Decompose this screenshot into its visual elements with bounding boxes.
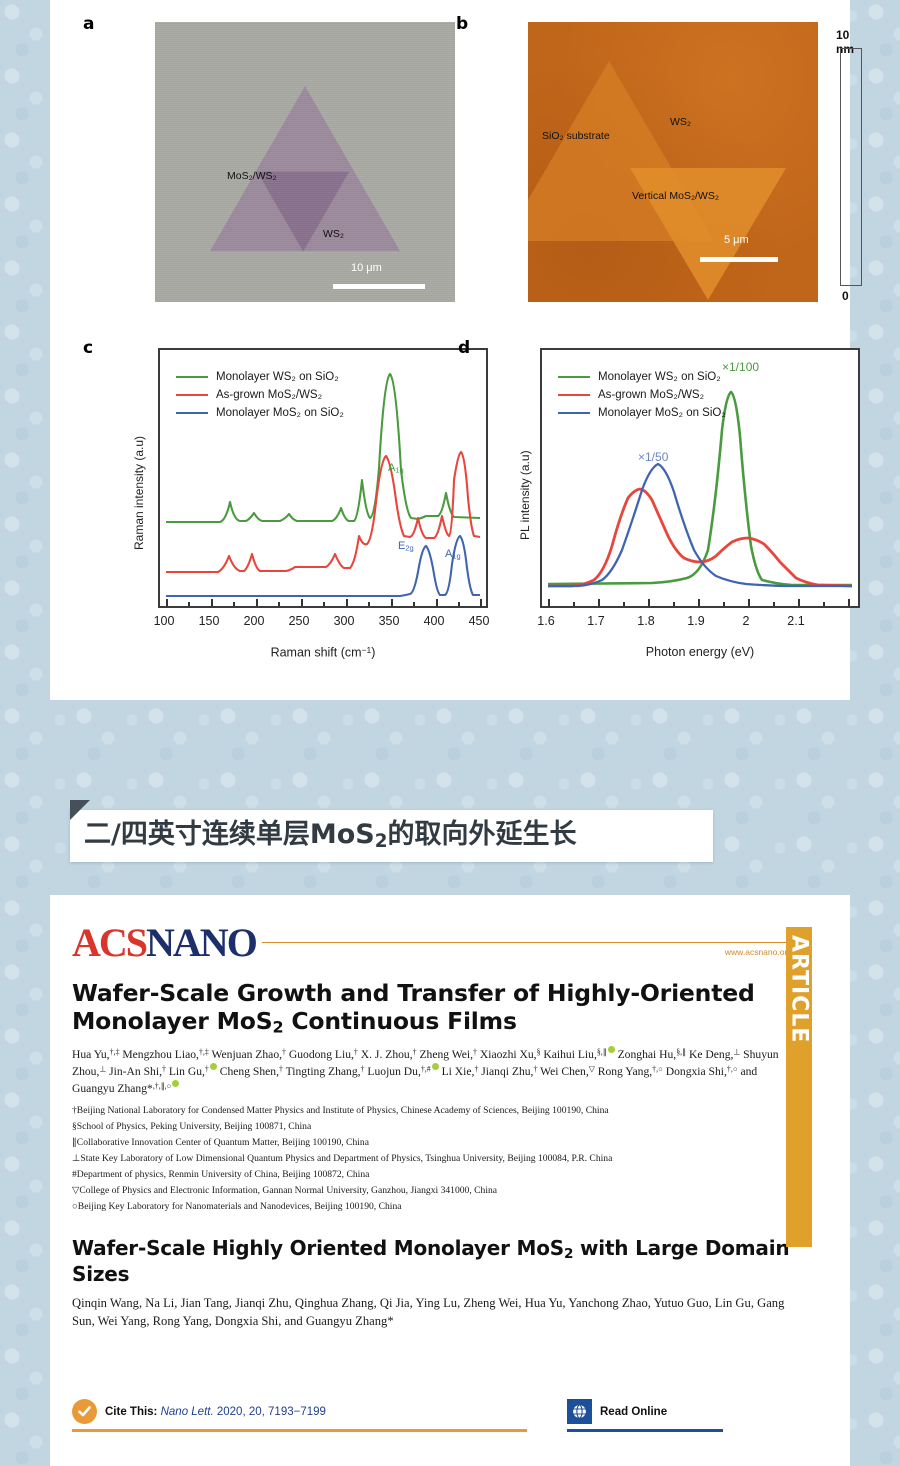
- globe-icon: [567, 1399, 592, 1424]
- afm-image: SiO₂ substrate WS₂ Vertical MoS₂/WS₂ 5 μ…: [528, 22, 818, 302]
- section-banner: 二/四英寸连续单层MoS2的取向外延生长: [70, 810, 713, 862]
- raman-plot: A1g E2g A1g Monolayer WS₂ on SiO₂ As-gro…: [158, 348, 488, 608]
- paper-authors-primary: Hua Yu,†,‡ Mengzhou Liao,†,‡ Wenjuan Zha…: [72, 1046, 792, 1097]
- legend-swatch-red: [176, 394, 208, 397]
- legend-item: As-grown MoS₂/WS₂: [176, 386, 344, 404]
- peak-label-a1g-green: A1g: [388, 462, 404, 475]
- paper-title-primary: Wafer-Scale Growth and Transfer of Highl…: [72, 979, 792, 1037]
- peak-label-e2g-blue: E2g: [398, 540, 414, 553]
- panel-letter-c: c: [83, 338, 93, 358]
- legend-label-mos2ws2: As-grown MoS₂/WS₂: [216, 389, 322, 401]
- legend-item: Monolayer WS₂ on SiO₂: [176, 368, 344, 386]
- affiliations-list: †Beijing National Laboratory for Condens…: [72, 1105, 792, 1213]
- label-ws2: WS₂: [323, 228, 344, 240]
- annot-x1-50: ×1/50: [638, 450, 668, 464]
- cite-underline: [72, 1429, 527, 1432]
- legend-item: Monolayer MoS₂ on SiO₂: [558, 404, 726, 422]
- panel-letter-a: a: [83, 14, 94, 34]
- legend-label-mos2: Monolayer MoS₂ on SiO₂: [598, 407, 726, 419]
- paper-title-secondary: Wafer-Scale Highly Oriented Monolayer Mo…: [72, 1236, 792, 1287]
- cite-label: Cite This:: [105, 1406, 157, 1418]
- legend-swatch-green: [176, 376, 208, 379]
- ws2-triangle: [210, 86, 400, 251]
- nano-logo-text: NANO: [146, 920, 256, 965]
- article-tab-label: ARTICLE: [787, 935, 812, 1043]
- cite-this-block[interactable]: Cite This: Nano Lett. 2020, 20, 7193−719…: [72, 1399, 527, 1432]
- raman-ylabel: Raman intensity (a.u): [132, 420, 146, 550]
- annot-x1-100: ×1/100: [722, 360, 759, 374]
- journal-header: ACSNANO www.acsnano.org: [72, 921, 792, 965]
- pl-plot: ×1/100 ×1/50 Monolayer WS₂ on SiO₂ As-gr…: [540, 348, 860, 608]
- legend-item: Monolayer MoS₂ on SiO₂: [176, 404, 344, 422]
- panel-letter-b: b: [456, 14, 468, 34]
- affiliation-item: †Beijing National Laboratory for Condens…: [72, 1105, 792, 1117]
- legend-swatch-red: [558, 394, 590, 397]
- journal-url[interactable]: www.acsnano.org: [725, 947, 792, 957]
- check-circle-icon: [72, 1399, 97, 1424]
- label-vertical-mos2-ws2: Vertical MoS₂/WS₂: [632, 190, 719, 202]
- legend-item: As-grown MoS₂/WS₂: [558, 386, 726, 404]
- affiliation-item: ○Beijing Key Laboratory for Nanomaterial…: [72, 1201, 792, 1213]
- read-online-block[interactable]: Read Online: [567, 1399, 723, 1432]
- legend-swatch-green: [558, 376, 590, 379]
- legend-label-mos2ws2: As-grown MoS₂/WS₂: [598, 389, 704, 401]
- legend-item: Monolayer WS₂ on SiO₂: [558, 368, 726, 386]
- colorbar-min-label: 0: [842, 289, 849, 303]
- acs-logo-text: ACS: [72, 920, 146, 965]
- raman-legend: Monolayer WS₂ on SiO₂ As-grown MoS₂/WS₂ …: [176, 368, 344, 422]
- legend-label-ws2: Monolayer WS₂ on SiO₂: [216, 371, 339, 383]
- legend-label-mos2: Monolayer MoS₂ on SiO₂: [216, 407, 344, 419]
- paper-screenshot-card: ACSNANO www.acsnano.org Wafer-Scale Grow…: [50, 895, 850, 1466]
- article-side-tab: ARTICLE: [786, 927, 812, 1247]
- cite-text: Cite This: Nano Lett. 2020, 20, 7193−719…: [105, 1406, 326, 1418]
- panel-letter-d: d: [458, 338, 470, 358]
- scalebar-a: [333, 284, 425, 289]
- raman-xlabel: Raman shift (cm−1): [158, 645, 488, 660]
- affiliation-item: ∥Collaborative Innovation Center of Quan…: [72, 1137, 792, 1149]
- optical-microscopy-image: MoS₂/WS₂ WS₂ 10 μm: [155, 22, 455, 302]
- cite-volume-pages: 2020, 20, 7193−7199: [214, 1406, 326, 1418]
- peak-label-a1g-blue: A1g: [445, 548, 461, 561]
- label-ws2-afm: WS₂: [670, 116, 691, 128]
- header-rule: [262, 942, 792, 943]
- legend-label-ws2: Monolayer WS₂ on SiO₂: [598, 371, 721, 383]
- label-sio2-substrate: SiO₂ substrate: [542, 130, 610, 142]
- cite-bar: Cite This: Nano Lett. 2020, 20, 7193−719…: [72, 1399, 723, 1432]
- legend-swatch-blue: [558, 412, 590, 415]
- pl-xlabel: Photon energy (eV): [540, 645, 860, 659]
- read-online-label: Read Online: [600, 1406, 667, 1418]
- height-colorbar: [840, 48, 862, 286]
- affiliation-item: #Department of physics, Renmin Universit…: [72, 1169, 792, 1181]
- scalebar-b: [700, 257, 778, 262]
- affiliation-item: ▽College of Physics and Electronic Infor…: [72, 1185, 792, 1197]
- pl-ylabel: PL intensity (a.u): [518, 430, 532, 540]
- label-mos2-ws2: MoS₂/WS₂: [227, 170, 277, 182]
- affiliation-item: §School of Physics, Peking University, B…: [72, 1121, 792, 1133]
- read-online-underline: [567, 1429, 723, 1432]
- scalebar-label-a: 10 μm: [351, 262, 382, 274]
- afm-mos2-triangle: [630, 168, 786, 300]
- acs-nano-logo: ACSNANO: [72, 923, 256, 963]
- affiliation-item: ⊥State Key Laboratory of Low Dimensional…: [72, 1153, 792, 1165]
- paper-authors-secondary: Qinqin Wang, Na Li, Jian Tang, Jianqi Zh…: [72, 1295, 792, 1331]
- banner-corner-marker: [70, 800, 90, 820]
- legend-swatch-blue: [176, 412, 208, 415]
- figure-card: a MoS₂/WS₂ WS₂ 10 μm b SiO₂ substrate WS…: [50, 0, 850, 700]
- scalebar-label-b: 5 μm: [724, 234, 749, 246]
- banner-title: 二/四英寸连续单层MoS2的取向外延生长: [70, 821, 577, 851]
- cite-journal: Nano Lett.: [161, 1406, 214, 1418]
- pl-legend: Monolayer WS₂ on SiO₂ As-grown MoS₂/WS₂ …: [558, 368, 726, 422]
